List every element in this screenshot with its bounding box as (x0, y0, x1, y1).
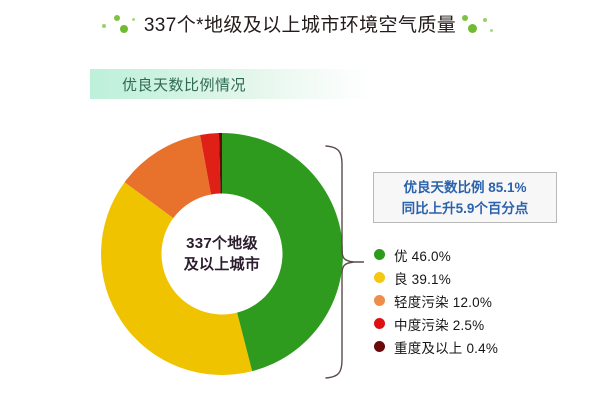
legend-color-dot-icon (374, 295, 385, 306)
legend-item[interactable]: 轻度污染 12.0% (374, 289, 584, 312)
callout-box: 优良天数比例 85.1% 同比上升5.9个百分点 (373, 172, 557, 223)
page-title: 337个*地级及以上城市环境空气质量 (0, 6, 600, 40)
section-banner-label: 优良天数比例情况 (122, 74, 246, 95)
callout-line-1: 优良天数比例 85.1% (403, 177, 526, 198)
legend-color-dot-icon (374, 318, 385, 329)
page-title-text: 337个*地级及以上城市环境空气质量 (144, 10, 456, 37)
legend-item[interactable]: 良 39.1% (374, 266, 584, 289)
legend-color-dot-icon (374, 249, 385, 260)
legend-color-dot-icon (374, 341, 385, 352)
donut-chart: 337个地级 及以上城市 (101, 133, 343, 375)
legend-color-dot-icon (374, 272, 385, 283)
decorative-green-dots-icon (456, 10, 502, 36)
chart-legend: 优 46.0%良 39.1%轻度污染 12.0%中度污染 2.5%重度及以上 0… (374, 243, 584, 358)
donut-center-line-2: 及以上城市 (184, 254, 261, 275)
decorative-green-dots-icon (98, 10, 144, 36)
bracket-connector-icon (324, 142, 364, 382)
callout-line-2: 同比上升5.9个百分点 (402, 198, 529, 219)
section-banner: 优良天数比例情况 (90, 69, 372, 99)
legend-item-label: 轻度污染 12.0% (394, 291, 492, 311)
legend-item[interactable]: 优 46.0% (374, 243, 584, 266)
legend-item[interactable]: 重度及以上 0.4% (374, 335, 584, 358)
legend-item-label: 重度及以上 0.4% (394, 337, 498, 357)
air-quality-infographic: 337个*地级及以上城市环境空气质量 优良天数比例情况 337个地级 及以上城市… (0, 0, 600, 400)
legend-item-label: 中度污染 2.5% (394, 314, 484, 334)
legend-item-label: 优 46.0% (394, 245, 451, 265)
legend-item[interactable]: 中度污染 2.5% (374, 312, 584, 335)
legend-item-label: 良 39.1% (394, 268, 451, 288)
donut-center-line-1: 337个地级 (186, 233, 258, 254)
donut-center-label: 337个地级 及以上城市 (162, 194, 282, 314)
